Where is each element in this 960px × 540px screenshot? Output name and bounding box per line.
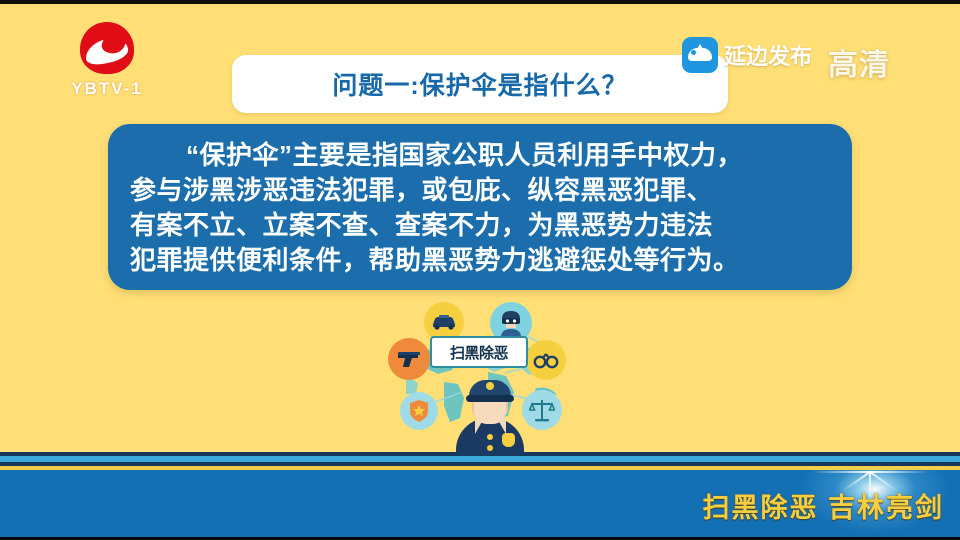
- handcuffs-icon: [526, 340, 566, 380]
- answer-panel: “保护伞”主要是指国家公职人员利用手中权力， 参与涉黑涉恶违法犯罪，或包庇、纵容…: [108, 124, 852, 290]
- answer-line: 有案不立、立案不查、查案不力，为黑恶势力违法: [130, 208, 830, 243]
- campaign-slogan-text: 扫黑除恶: [450, 342, 508, 363]
- campaign-slogan-banner: 扫黑除恶: [430, 336, 528, 368]
- pistol-icon: [388, 338, 430, 380]
- broadcaster-bug: 延边发布: [682, 37, 812, 73]
- bottom-banner-slogan: 扫黑除恶 吉林亮剑: [0, 470, 944, 540]
- answer-line: “保护伞”主要是指国家公职人员利用手中权力，: [130, 138, 830, 173]
- answer-line: 参与涉黑涉恶违法犯罪，或包庇、纵容黑恶犯罪、: [130, 173, 830, 208]
- broadcaster-bug-label: 延边发布: [724, 39, 812, 71]
- channel-logo: YBTV-1: [52, 22, 162, 102]
- police-officer-figure: [452, 374, 528, 454]
- hd-watermark: 高清: [828, 40, 890, 84]
- channel-logo-label: YBTV-1: [52, 79, 162, 99]
- campaign-illustration: 扫黑除恶: [386, 302, 592, 452]
- bottom-banner: 扫黑除恶 吉林亮剑: [0, 470, 960, 540]
- scales-icon: [522, 390, 562, 430]
- question-title-box: 问题一:保护伞是指什么？: [232, 55, 728, 113]
- tv-broadcast-frame: YBTV-1 问题一:保护伞是指什么？ 延边发布 高清 “保护伞”主要是指国家公…: [0, 0, 960, 540]
- answer-line: 犯罪提供便利条件，帮助黑恶势力逃避惩处等行为。: [130, 243, 830, 278]
- cloud-mountain-icon: [682, 37, 718, 73]
- program-stage: YBTV-1 问题一:保护伞是指什么？ 延边发布 高清 “保护伞”主要是指国家公…: [0, 0, 960, 452]
- letterbox-top: [0, 0, 960, 4]
- police-badge-icon: [400, 392, 438, 430]
- ybtv-swoosh-icon: [76, 22, 138, 78]
- question-title-text: 问题一:保护伞是指什么？: [332, 66, 627, 102]
